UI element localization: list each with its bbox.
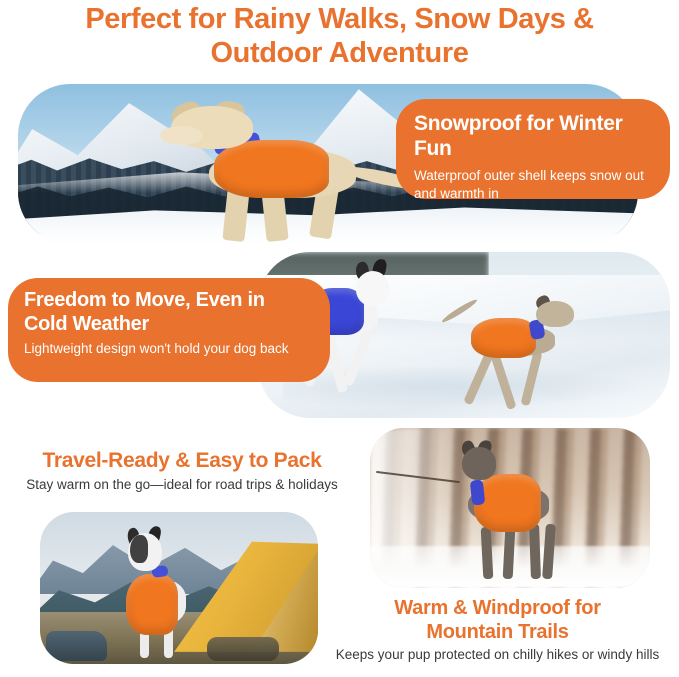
dog-leg <box>342 329 373 387</box>
feature-title-travel-ready: Travel-Ready & Easy to Pack <box>0 448 364 474</box>
dog-collar-blue <box>470 479 485 505</box>
feature-subtitle-travel-ready: Stay warm on the go—ideal for road trips… <box>0 476 364 494</box>
dog-muzzle <box>160 126 204 145</box>
camping-gear-left <box>46 631 107 661</box>
feature-photo-travel-ready <box>40 512 318 664</box>
dog-leg <box>481 526 494 579</box>
page-title: Perfect for Rainy Walks, Snow Days & Out… <box>0 2 679 70</box>
dog-leg <box>463 352 494 406</box>
dog-tail <box>441 298 479 325</box>
callout-title-snowproof: Snowproof for Winter Fun <box>414 111 654 161</box>
product-feature-infographic: Perfect for Rainy Walks, Snow Days & Out… <box>0 0 679 677</box>
dog-head <box>462 447 496 480</box>
feature-text-travel-ready: Travel-Ready & Easy to Pack Stay warm on… <box>0 448 364 494</box>
feature-photo-warm-windproof <box>370 428 650 588</box>
dog-greyhound-in-orange-vest <box>443 444 583 582</box>
callout-snowproof: Snowproof for Winter Fun Waterproof oute… <box>396 99 670 199</box>
page-title-line-2: Outdoor Adventure <box>0 36 679 70</box>
callout-title-freedom-line-2: Cold Weather <box>24 312 316 336</box>
feature-subtitle-windproof: Keeps your pup protected on chilly hikes… <box>316 646 679 664</box>
dog-vest-orange <box>471 318 537 359</box>
callout-subtitle-snowproof: Waterproof outer shell keeps snow out an… <box>414 167 654 202</box>
dog-border-collie-in-orange-vest <box>112 530 212 658</box>
dog-head <box>536 301 574 327</box>
dog-whippet-in-orange-vest <box>439 298 596 418</box>
dog-vest-orange <box>214 140 329 198</box>
dog-face-marking <box>130 535 148 563</box>
callout-freedom-to-move: Freedom to Move, Even in Cold Weather Li… <box>8 278 330 382</box>
dog-vest-orange <box>126 574 178 635</box>
feature-title-windproof-line-1: Warm & Windproof for <box>316 596 679 620</box>
dog-leg <box>529 524 541 579</box>
dog-vest-orange <box>474 474 541 532</box>
feature-text-warm-windproof: Warm & Windproof for Mountain Trails Kee… <box>316 596 679 664</box>
dog-leg <box>520 351 542 407</box>
callout-subtitle-freedom: Lightweight design won't hold your dog b… <box>24 340 316 357</box>
photo-camping-with-tent <box>40 512 318 664</box>
dog-labrador-in-orange-vest <box>154 100 427 244</box>
photo-snowy-birch-forest <box>370 428 650 588</box>
callout-title-freedom-line-1: Freedom to Move, Even in <box>24 288 316 312</box>
dog-leg <box>503 526 516 579</box>
dog-head <box>356 271 390 306</box>
dog-leg <box>542 524 556 580</box>
feature-title-windproof-line-2: Mountain Trails <box>316 620 679 644</box>
page-title-line-1: Perfect for Rainy Walks, Snow Days & <box>85 3 593 35</box>
dog-leg <box>490 353 517 410</box>
camping-gear-right <box>207 637 279 661</box>
